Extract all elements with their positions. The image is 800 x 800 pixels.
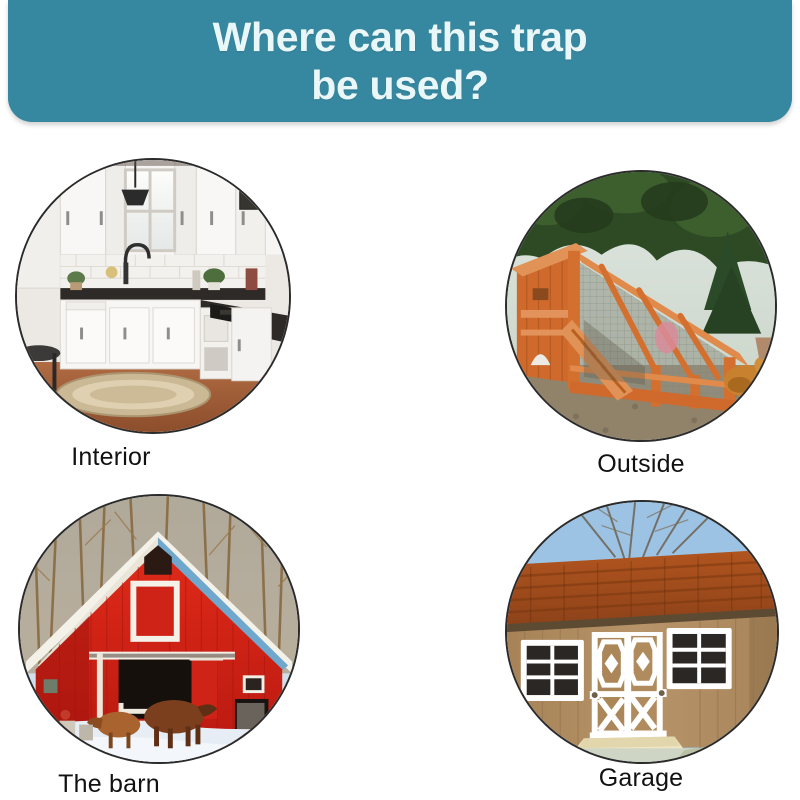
location-label-barn: The barn <box>0 770 309 799</box>
location-label-garage: Garage <box>441 764 800 793</box>
location-item-outside: Outside <box>400 128 800 464</box>
garage-shed-photo <box>505 500 779 764</box>
kitchen-scene <box>17 160 289 432</box>
red-barn-photo <box>18 494 300 764</box>
location-item-garage: Garage <box>400 464 800 800</box>
coop-scene <box>507 172 775 440</box>
location-item-interior: Interior <box>0 128 400 464</box>
usage-location-grid: Interior <box>0 128 800 800</box>
shed-scene <box>507 502 777 762</box>
location-item-barn: The barn <box>0 464 400 800</box>
kitchen-interior-photo <box>15 158 291 434</box>
chicken-coop-photo <box>505 170 777 442</box>
header-banner: Where can this trap be used? <box>8 0 792 122</box>
barn-scene <box>20 496 298 762</box>
page-title: Where can this trap be used? <box>213 13 588 110</box>
